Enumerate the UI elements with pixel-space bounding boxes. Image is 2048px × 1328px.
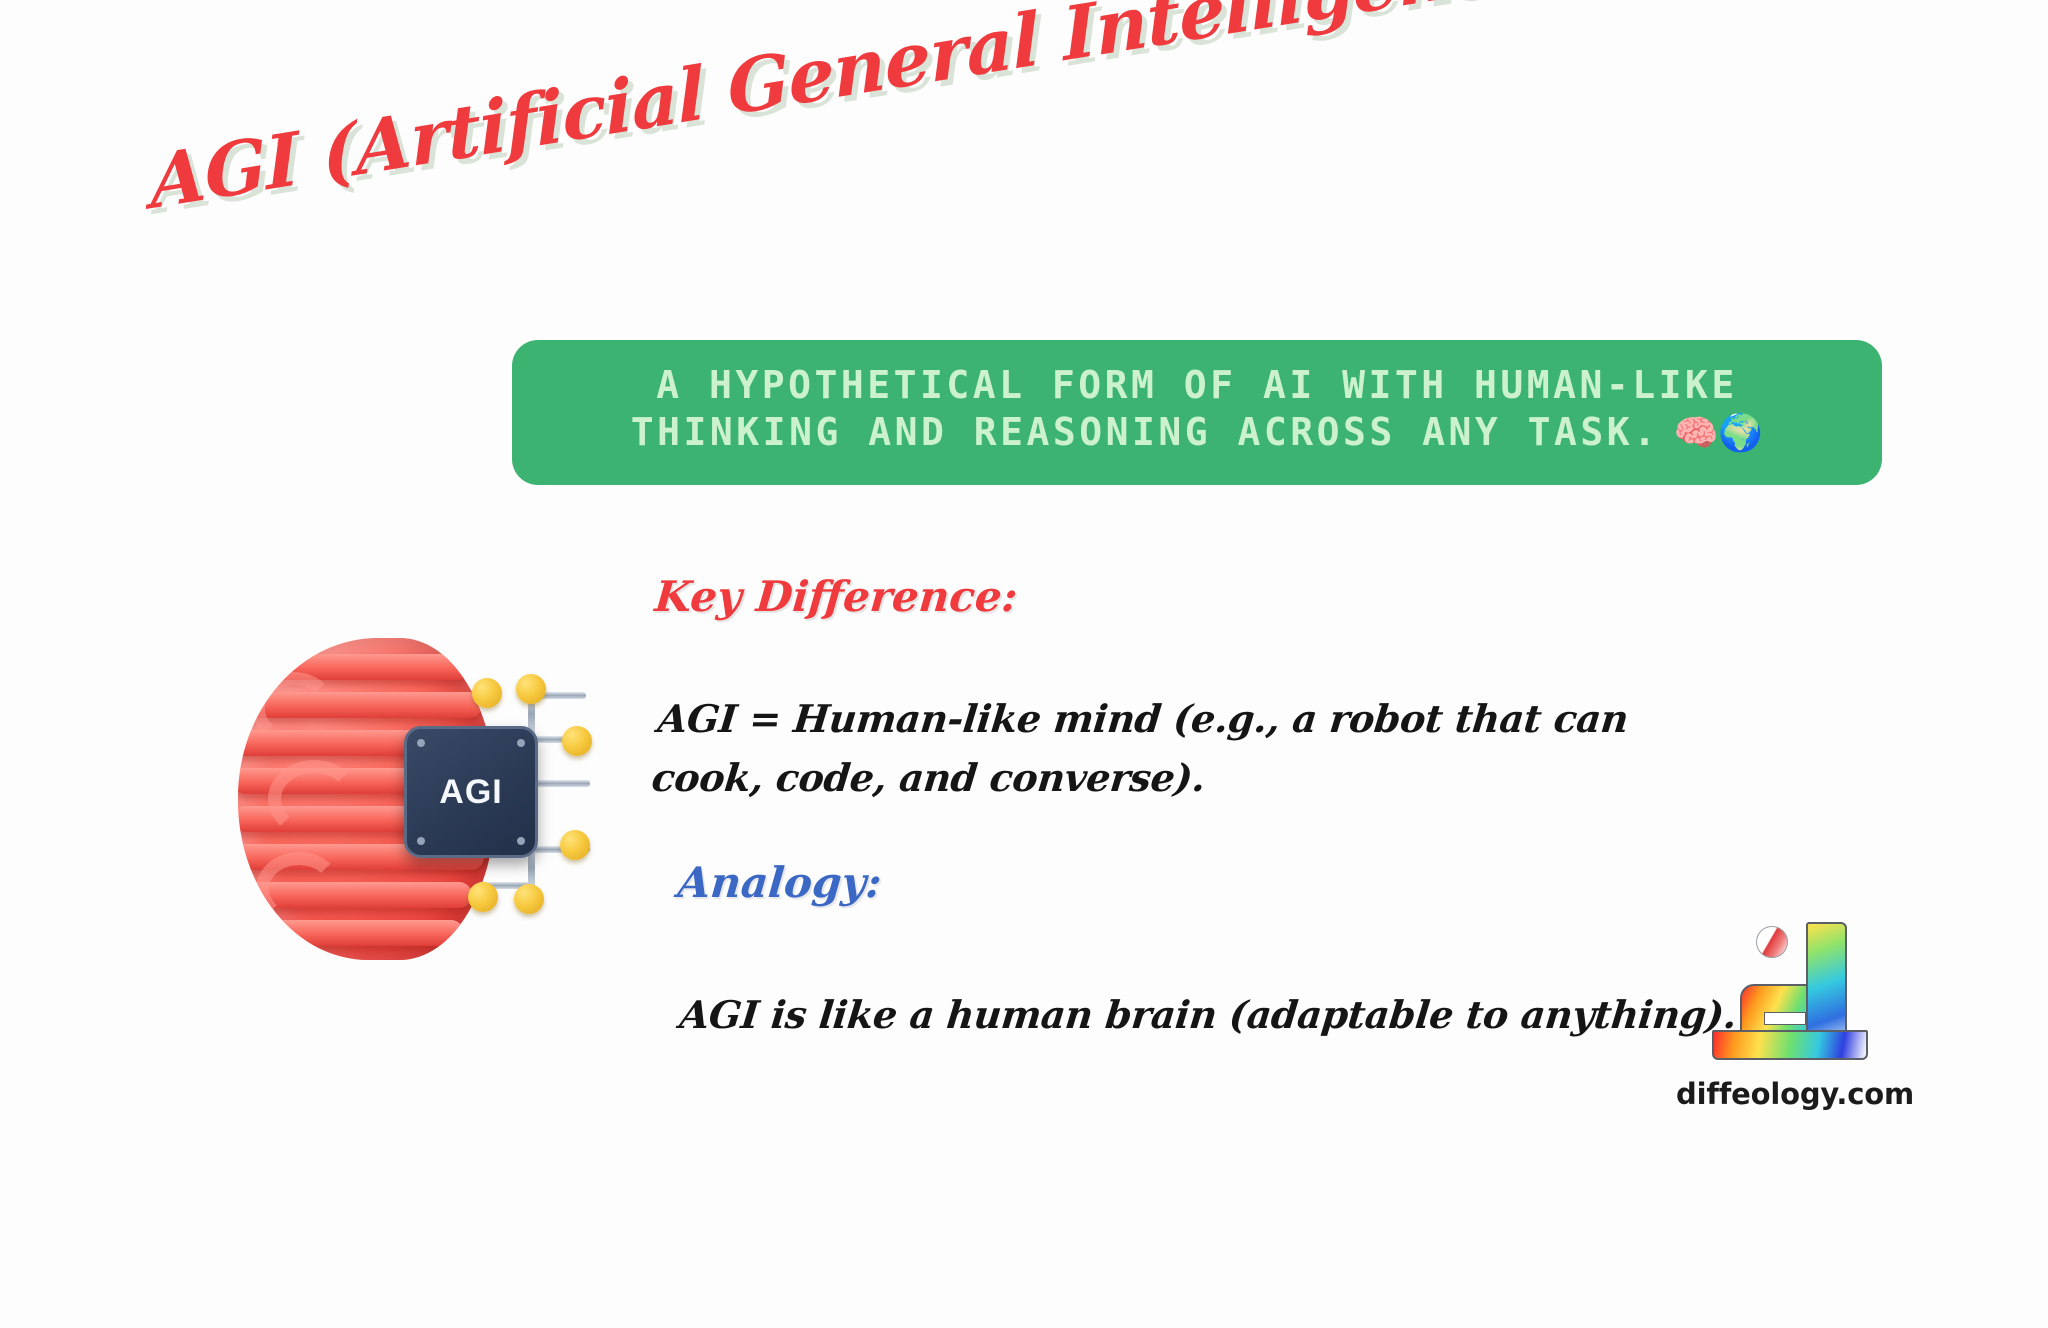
logo-base-shape xyxy=(1712,1030,1868,1060)
watermark-site: diffeology.com xyxy=(1670,1077,1920,1111)
circuit-node xyxy=(560,830,590,860)
definition-line-1: A HYPOTHETICAL FORM OF AI WITH HUMAN-LIK… xyxy=(656,362,1738,409)
title-container: AGI (Artificial General Intelligence) xyxy=(143,0,1576,225)
circuit-node xyxy=(514,884,544,914)
key-difference-heading: Key Difference: xyxy=(653,572,1020,621)
chip-label: AGI xyxy=(439,773,502,812)
rainbow-d-logo-icon xyxy=(1710,922,1880,1067)
brain-chip-graphic: AGI xyxy=(238,630,598,970)
watermark: diffeology.com xyxy=(1670,922,1920,1111)
definition-banner: A HYPOTHETICAL FORM OF AI WITH HUMAN-LIK… xyxy=(512,340,1882,485)
key-difference-text: AGI = Human-like mind (e.g., a robot tha… xyxy=(649,690,1741,808)
definition-line-2-row: THINKING AND REASONING ACROSS ANY TASK.🧠… xyxy=(631,409,1763,457)
agi-chip: AGI xyxy=(404,726,538,858)
brain-globe-emoji: 🧠🌍 xyxy=(1674,413,1764,454)
analogy-text: AGI is like a human brain (adaptable to … xyxy=(677,986,1743,1045)
infographic-canvas: AGI (Artificial General Intelligence) A … xyxy=(0,0,2048,1328)
page-title: AGI (Artificial General Intelligence) xyxy=(148,0,1573,226)
analogy-heading: Analogy: xyxy=(676,858,884,907)
logo-ball-icon xyxy=(1756,926,1788,958)
circuit-node xyxy=(468,882,498,912)
chip-lead xyxy=(534,780,590,787)
definition-line-2: THINKING AND REASONING ACROSS ANY TASK. xyxy=(631,410,1660,454)
logo-bowl-hole xyxy=(1764,1012,1806,1025)
circuit-node xyxy=(516,674,546,704)
circuit-node xyxy=(562,726,592,756)
circuit-node xyxy=(472,678,502,708)
